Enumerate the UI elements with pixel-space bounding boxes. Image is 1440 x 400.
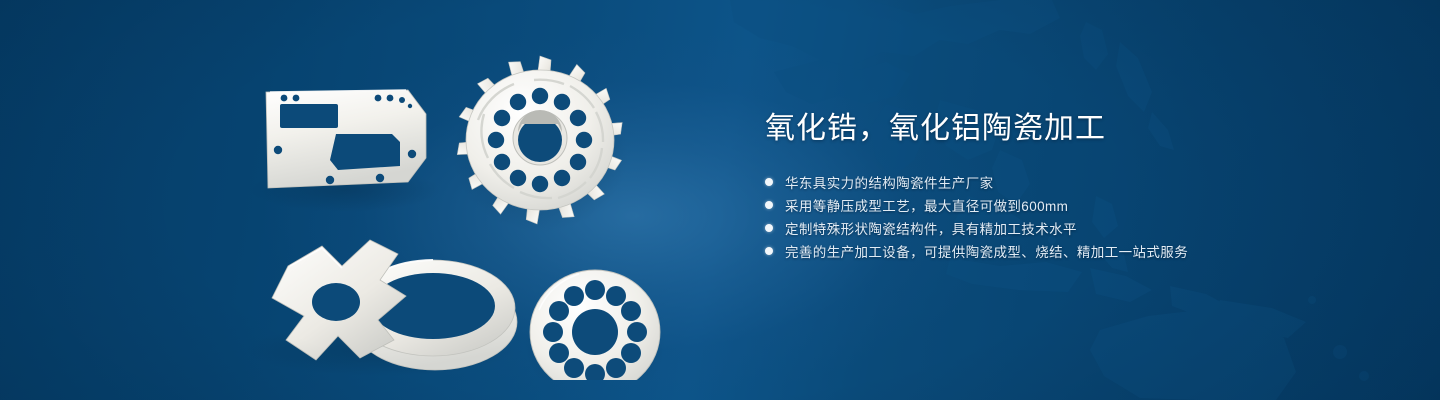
ceramic-perforated-ring-photo xyxy=(525,270,665,380)
feature-text: 采用等静压成型工艺，最大直径可做到600mm xyxy=(785,195,1068,215)
feature-text: 华东具实力的结构陶瓷件生产厂家 xyxy=(785,172,994,192)
bullet-dot-icon xyxy=(765,178,773,186)
feature-item: 采用等静压成型工艺，最大直径可做到600mm xyxy=(765,193,1385,216)
ceramic-plate-photo xyxy=(250,90,440,212)
product-photo-group xyxy=(230,40,700,380)
feature-text: 完善的生产加工设备，可提供陶瓷成型、烧结、精加工一站式服务 xyxy=(785,241,1188,261)
bullet-dot-icon xyxy=(765,201,773,209)
feature-list: 华东具实力的结构陶瓷件生产厂家 采用等静压成型工艺，最大直径可做到600mm 定… xyxy=(765,170,1385,262)
ceramic-cross-and-rings-photo xyxy=(245,240,517,376)
banner-content: 氧化锆，氧化铝陶瓷加工 华东具实力的结构陶瓷件生产厂家 采用等静压成型工艺，最大… xyxy=(765,110,1385,262)
bullet-dot-icon xyxy=(765,247,773,255)
feature-item: 定制特殊形状陶瓷结构件，具有精加工技术水平 xyxy=(765,216,1385,239)
promo-banner: 氧化锆，氧化铝陶瓷加工 华东具实力的结构陶瓷件生产厂家 采用等静压成型工艺，最大… xyxy=(0,0,1440,400)
banner-title: 氧化锆，氧化铝陶瓷加工 xyxy=(765,110,1385,148)
bullet-dot-icon xyxy=(765,224,773,232)
feature-item: 华东具实力的结构陶瓷件生产厂家 xyxy=(765,170,1385,193)
feature-text: 定制特殊形状陶瓷结构件，具有精加工技术水平 xyxy=(785,218,1077,238)
feature-item: 完善的生产加工设备，可提供陶瓷成型、烧结、精加工一站式服务 xyxy=(765,239,1385,262)
ceramic-impeller-photo xyxy=(452,56,628,232)
